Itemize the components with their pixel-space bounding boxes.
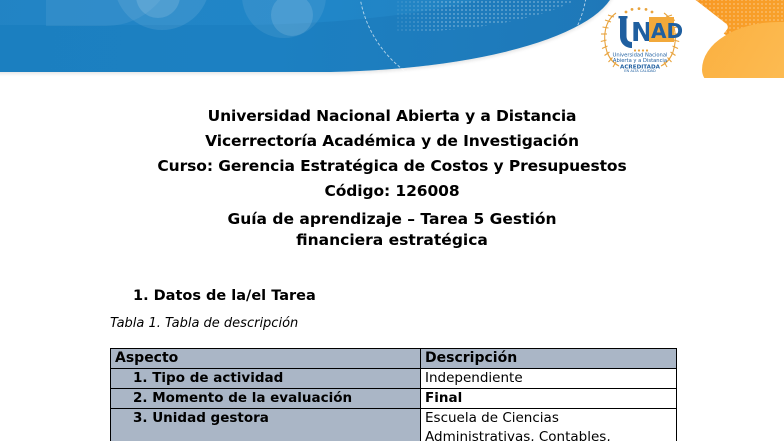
table-header-descripcion: Descripción (421, 349, 677, 369)
banner-blue-shape (0, 0, 616, 72)
table-header-row: Aspecto Descripción (111, 349, 677, 369)
section-heading-datos: 1. Datos de la/el Tarea (133, 288, 316, 304)
table-cell-aspect: 2. Momento de la evaluación (111, 389, 421, 409)
title-line-2: Vicerrectoría Académica y de Investigaci… (0, 129, 784, 154)
logo-subtitle-line2: Abierta y a Distancia (613, 58, 667, 64)
table-row: 1. Tipo de actividad Independiente (111, 369, 677, 389)
logo-acronym: N AD (619, 16, 684, 48)
logo-accreditation-line2: EN ALTA CALIDAD (624, 69, 656, 72)
table-caption: Tabla 1. Tabla de descripción (110, 316, 298, 331)
guide-title: Guía de aprendizaje – Tarea 5 Gestión fi… (0, 209, 784, 251)
logo-top-dots (625, 7, 654, 13)
banner-dashed-arc (358, 0, 588, 78)
title-line-1: Universidad Nacional Abierta y a Distanc… (0, 104, 784, 129)
table-cell-value: Independiente (421, 369, 677, 389)
table-row: 3. Unidad gestora Escuela de Ciencias Ad… (111, 409, 677, 441)
table-cell-aspect: 1. Tipo de actividad (111, 369, 421, 389)
title-line-3: Curso: Gerencia Estratégica de Costos y … (0, 154, 784, 179)
svg-text:AD: AD (651, 19, 683, 43)
guide-title-line-1: Guía de aprendizaje – Tarea 5 Gestión (0, 209, 784, 230)
table-row: 2. Momento de la evaluación Final (111, 389, 677, 409)
title-line-4: Código: 126008 (0, 179, 784, 204)
description-table: Aspecto Descripción 1. Tipo de actividad… (110, 348, 677, 441)
table-cell-aspect: 3. Unidad gestora (111, 409, 421, 441)
table-header-aspecto: Aspecto (111, 349, 421, 369)
page-banner: N AD Universidad Nacional Abierta y a Di… (0, 0, 784, 78)
unad-logo: N AD Universidad Nacional Abierta y a Di… (594, 4, 686, 72)
table-cell-value: Final (421, 389, 677, 409)
guide-title-line-2: financiera estratégica (0, 230, 784, 251)
document-title-block: Universidad Nacional Abierta y a Distanc… (0, 104, 784, 251)
document-page: N AD Universidad Nacional Abierta y a Di… (0, 0, 784, 441)
table-cell-value: Escuela de Ciencias Administrativas, Con… (421, 409, 677, 441)
